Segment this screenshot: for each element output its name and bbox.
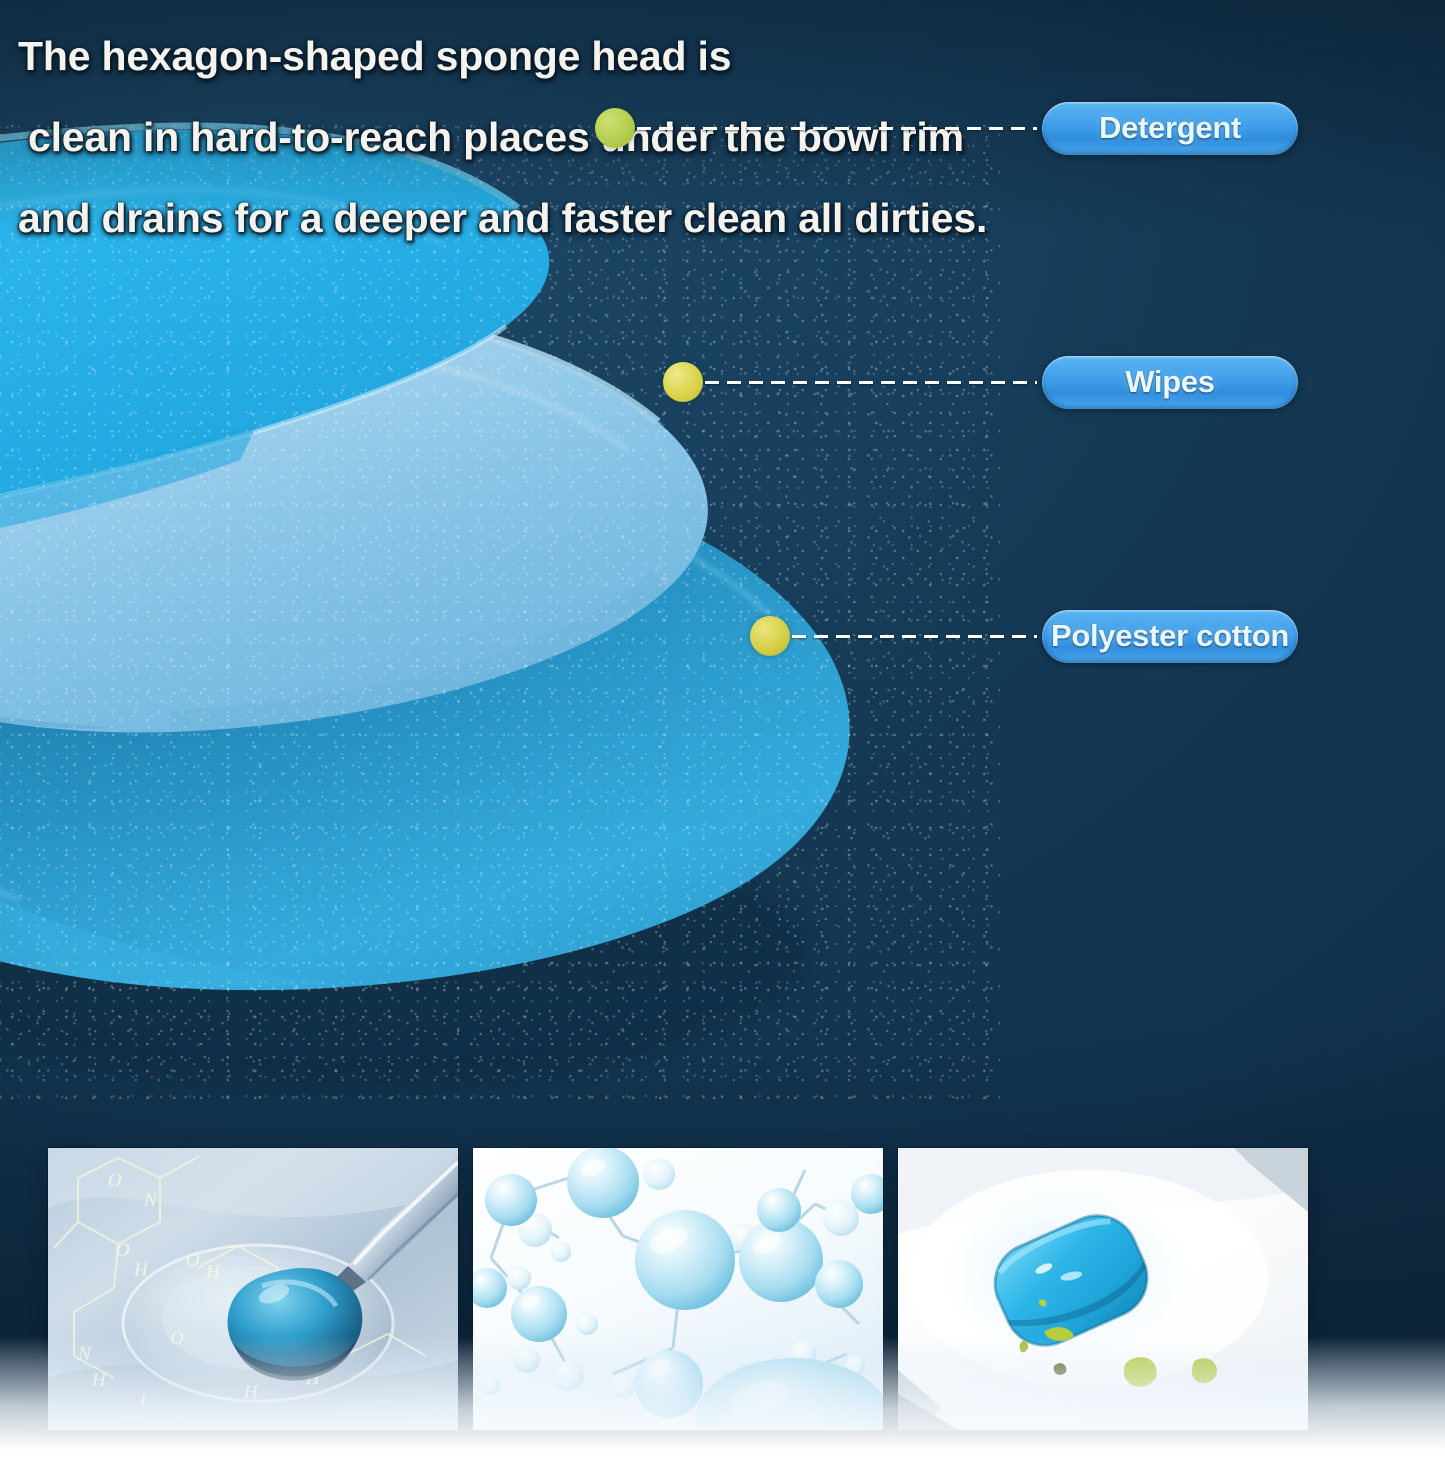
callout-line-polyester-cotton [792,635,1037,638]
svg-text:N: N [143,1190,158,1211]
product-infographic: The hexagon-shaped sponge head is clean … [0,0,1445,1466]
callout-detergent: Detergent [0,100,1320,156]
headline-block: The hexagon-shaped sponge head is clean … [18,36,1198,279]
badge-label-detergent: Detergent [1099,110,1241,146]
headline-line-3: and drains for a deeper and faster clean… [18,198,1198,239]
callout-dot-wipes [663,362,703,402]
badge-label-polyester-cotton: Polyester cotton [1051,618,1289,654]
callout-line-detergent [637,127,1037,130]
callout-line-wipes [705,381,1037,384]
svg-text:H: H [205,1262,221,1283]
badge-polyester-cotton[interactable]: Polyester cotton [1042,610,1298,663]
svg-text:O: O [116,1240,130,1261]
bottom-white-fade [0,1336,1445,1466]
badge-detergent[interactable]: Detergent [1042,102,1298,155]
badge-label-wipes: Wipes [1125,364,1215,400]
callout-polyester-cotton: Polyester cotton [0,608,1320,664]
callout-wipes: Wipes [0,354,1320,410]
svg-text:H: H [133,1260,149,1281]
callout-dot-detergent [595,108,635,148]
headline-line-1: The hexagon-shaped sponge head is [18,36,1198,77]
callout-dot-polyester-cotton [750,616,790,656]
svg-text:O: O [108,1170,122,1191]
badge-wipes[interactable]: Wipes [1042,356,1298,409]
svg-text:O: O [186,1250,200,1271]
